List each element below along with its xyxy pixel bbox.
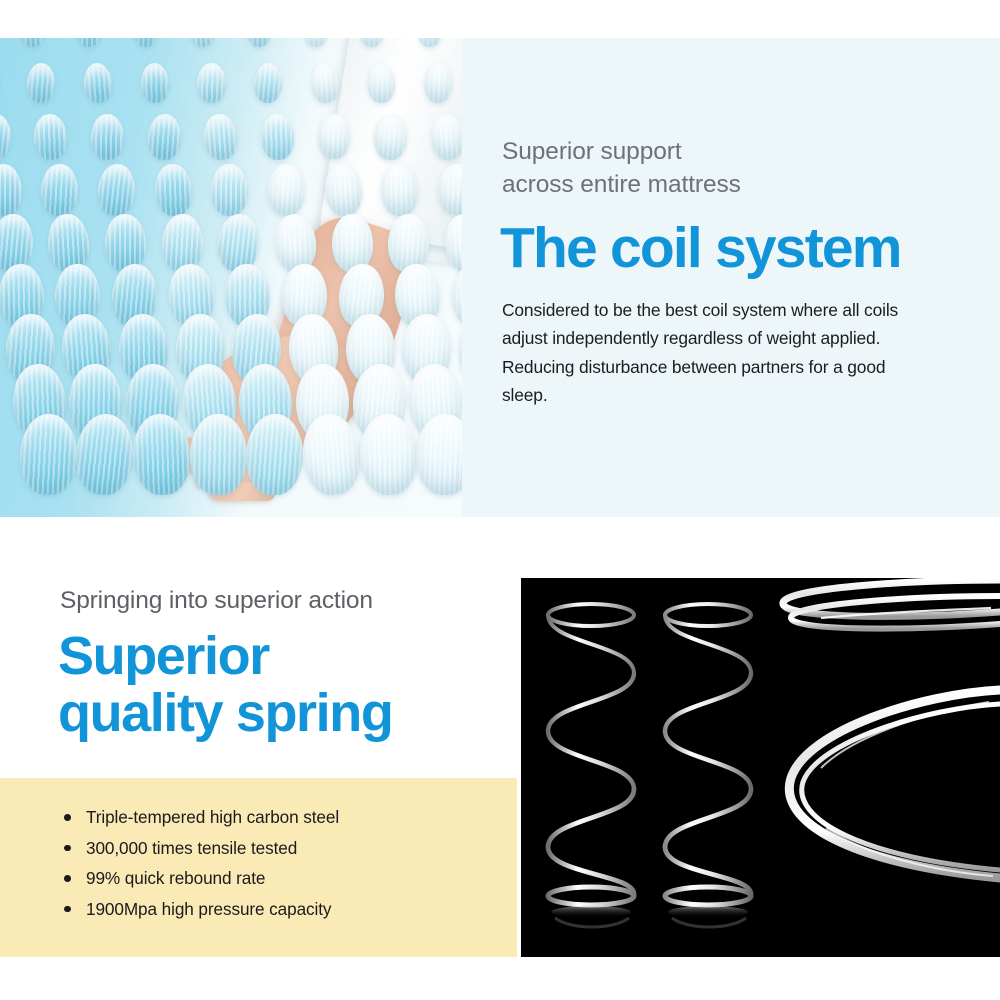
pocket-coil bbox=[373, 113, 408, 160]
spring-feature-label: 99% quick rebound rate bbox=[86, 868, 265, 888]
pocket-coil bbox=[309, 62, 341, 104]
pocket-coil bbox=[189, 38, 216, 48]
coil-system-heading: The coil system bbox=[500, 220, 1000, 277]
pocket-coil bbox=[260, 113, 295, 160]
pocket-coil bbox=[451, 264, 462, 328]
bullet-dot-icon bbox=[64, 906, 71, 913]
pocket-coil bbox=[273, 212, 318, 272]
pocket-coil bbox=[318, 114, 351, 160]
spring-feature-label: 1900Mpa high pressure capacity bbox=[86, 899, 331, 919]
bullet-dot-icon bbox=[64, 875, 71, 882]
coil-system-photo bbox=[0, 38, 462, 517]
pocket-coil bbox=[147, 113, 181, 160]
bullet-dot-icon bbox=[64, 845, 71, 852]
pocket-coil bbox=[197, 63, 225, 103]
pocket-coil bbox=[0, 112, 12, 160]
pocket-coil bbox=[202, 112, 239, 161]
pocket-coil bbox=[133, 38, 159, 48]
spring-feature-label: 300,000 times tensile tested bbox=[86, 838, 297, 858]
pocket-coil bbox=[267, 163, 305, 216]
pocket-coil bbox=[416, 414, 462, 495]
spring-feature-item: 1900Mpa high pressure capacity bbox=[62, 898, 339, 920]
pocket-coil bbox=[357, 413, 419, 497]
spring-feature-label: Triple-tempered high carbon steel bbox=[86, 807, 339, 827]
pocket-coil bbox=[82, 62, 114, 105]
pocket-coil bbox=[77, 38, 101, 47]
coil-system-text-panel: Superior support across entire mattress … bbox=[462, 38, 1000, 517]
small-spring-left-reflection bbox=[551, 906, 631, 918]
spring-feature-item: Triple-tempered high carbon steel bbox=[62, 806, 339, 828]
pocket-coil bbox=[253, 63, 283, 104]
pocket-coil bbox=[216, 212, 261, 272]
pocket-coil bbox=[19, 414, 78, 496]
coil-springs-illustration bbox=[521, 578, 1000, 957]
pocket-coil bbox=[33, 112, 69, 160]
spring-feature-item: 99% quick rebound rate bbox=[62, 867, 339, 889]
bullet-dot-icon bbox=[64, 814, 71, 821]
pocket-coil bbox=[153, 162, 193, 216]
pocket-coil bbox=[41, 163, 79, 215]
spring-quality-heading-line1: Superior bbox=[58, 628, 528, 685]
spring-feature-item: 300,000 times tensile tested bbox=[62, 837, 339, 859]
pocket-coil bbox=[331, 213, 373, 271]
coil-system-eyebrow-line1: Superior support bbox=[502, 136, 942, 169]
pocket-coil bbox=[0, 163, 22, 216]
coil-system-eyebrow-line2: across entire mattress bbox=[502, 169, 942, 202]
product-feature-page: Superior support across entire mattress … bbox=[0, 0, 1000, 1000]
pocket-coil bbox=[189, 414, 248, 496]
pocket-coil bbox=[130, 412, 193, 497]
pocket-coil bbox=[246, 38, 271, 48]
pocket-coil bbox=[90, 113, 123, 159]
pocket-coil bbox=[104, 213, 147, 272]
pocket-coil bbox=[46, 212, 92, 273]
pocket-coil bbox=[387, 213, 430, 272]
pocket-coil bbox=[19, 38, 45, 48]
pocket-coil bbox=[96, 162, 136, 216]
pocket-coil bbox=[26, 63, 56, 104]
spring-quality-heading-line2: quality spring bbox=[58, 685, 528, 742]
pocket-coil-field bbox=[0, 38, 462, 517]
small-spring-middle-reflection bbox=[668, 906, 748, 918]
spring-quality-heading: Superior quality spring bbox=[58, 628, 528, 742]
pocket-coil bbox=[161, 213, 203, 271]
coil-system-body: Considered to be the best coil system wh… bbox=[502, 296, 912, 409]
coil-system-eyebrow: Superior support across entire mattress bbox=[502, 136, 942, 201]
pocket-coil bbox=[303, 38, 328, 48]
spring-features-list: Triple-tempered high carbon steel300,000… bbox=[62, 806, 339, 928]
pocket-coil bbox=[140, 63, 170, 104]
spring-features-band: Triple-tempered high carbon steel300,000… bbox=[0, 778, 517, 957]
coil-springs-photo bbox=[521, 578, 1000, 957]
spring-quality-eyebrow: Springing into superior action bbox=[60, 585, 500, 617]
pocket-coil bbox=[211, 163, 249, 215]
